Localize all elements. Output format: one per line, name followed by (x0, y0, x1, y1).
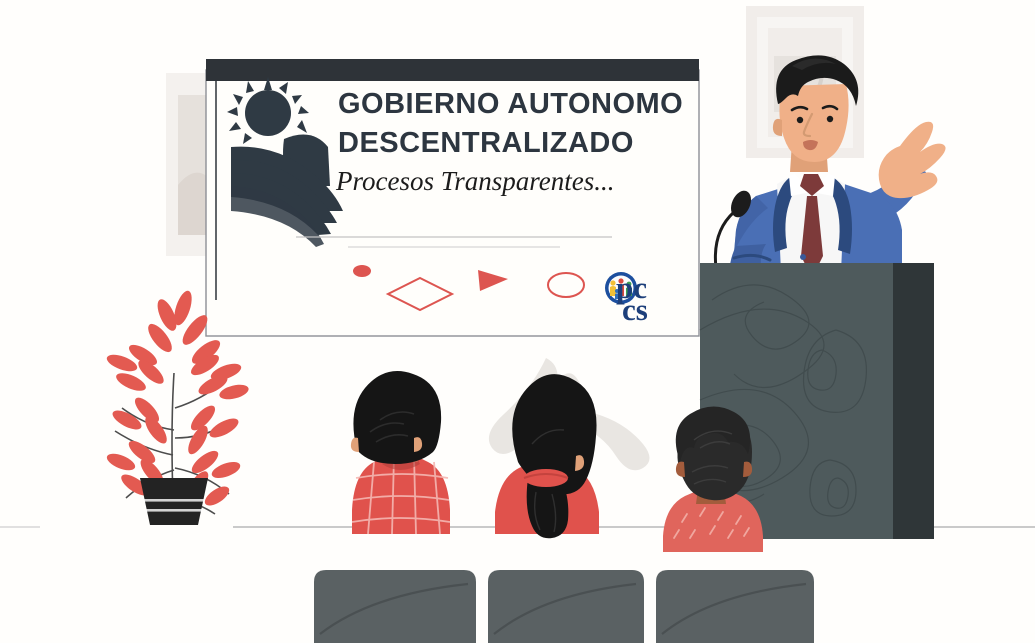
illustration-canvas: GOBIERNO AUTONOMO DESCENTRALIZADO Proces… (0, 0, 1035, 643)
audience-2-hair-tie (524, 469, 568, 487)
screen-top-bar (206, 59, 699, 81)
slide-title-line-2: DESCENTRALIZADO (338, 127, 634, 159)
presentation-scene: GOBIERNO AUTONOMO DESCENTRALIZADO Proces… (0, 0, 1035, 643)
podium-side (893, 263, 934, 539)
audience-2-chair (488, 570, 644, 643)
dot-shape (353, 265, 371, 277)
plant-pot (140, 478, 208, 525)
slide-title-line-1: GOBIERNO AUTONOMO (338, 88, 683, 120)
audience-3-chair (656, 570, 814, 643)
projection-screen[interactable]: GOBIERNO AUTONOMO DESCENTRALIZADO Proces… (206, 59, 699, 336)
slide-tagline: Procesos Transparentes... (335, 166, 615, 196)
cpccs-line-2: cs (622, 292, 648, 327)
audience-1-chair (314, 570, 476, 643)
